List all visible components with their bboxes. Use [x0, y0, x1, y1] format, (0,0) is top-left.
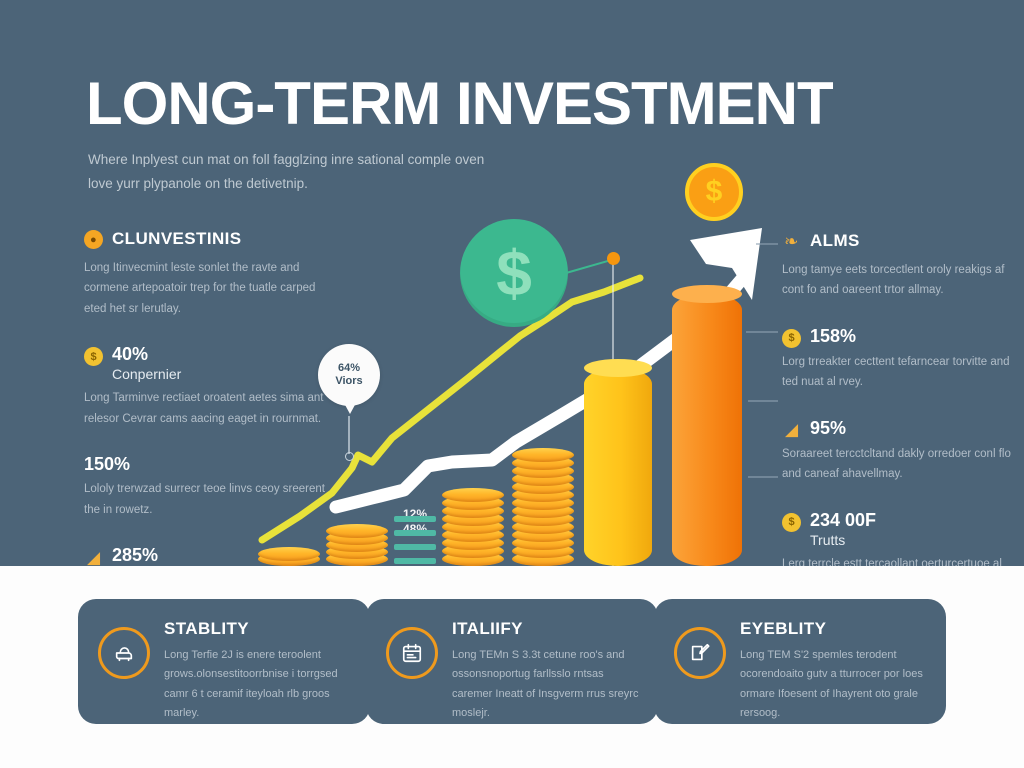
left-stat-2-body: Lololy trerwzad surrecr teoe linvs ceoy …: [84, 479, 334, 520]
coin: [326, 524, 388, 538]
bar-yellow-cap: [584, 359, 652, 377]
card-text: Long TEMn S 3.3t cetune roo's and ossons…: [452, 646, 640, 723]
coin-stack-2: [326, 522, 388, 566]
right-stat-3-body: Lerg terrcle estt tercaollant oerturcert…: [782, 554, 1014, 566]
left-stat-2-number: 150%: [84, 455, 130, 475]
card-title: ITALIIFY: [452, 619, 640, 639]
bar-yellow: [584, 368, 652, 566]
right-column-heading: ❧ ALMS: [782, 230, 1014, 251]
coin: [442, 488, 504, 502]
right-stat-1-body: Lorg trreakter cecttent tefarncear torvi…: [782, 352, 1014, 393]
left-stat-1-subtitle: Conpernier: [112, 366, 181, 382]
left-stat-1: $ 40% Conpernier: [84, 345, 334, 384]
connector-endpoint-dot: [607, 252, 620, 265]
calendar-icon: [386, 627, 438, 679]
callout-label: Viors: [335, 375, 362, 388]
feature-card-italiify[interactable]: ITALIIFY Long TEMn S 3.3t cetune roo's a…: [366, 599, 658, 724]
right-connector-stub: [746, 331, 778, 333]
left-stat-3: ◢ 285%: [84, 546, 334, 566]
teal-bar: [394, 516, 436, 522]
left-column-body: Long Itinvecmint leste sonlet the ravte …: [84, 258, 334, 319]
coin: [512, 448, 574, 462]
feature-card-eyeblity[interactable]: EYEBLITY Long TEM S'2 spemles terodent o…: [654, 599, 946, 724]
feature-cards: STABLITY Long Terfie 2J is enere teroole…: [0, 566, 1024, 768]
right-stat-1: $ 158%: [782, 327, 1014, 348]
dollar-sign-icon: $: [496, 241, 532, 305]
callout-endpoint-dot: [345, 452, 354, 461]
green-dollar-coin: $: [460, 219, 568, 327]
piggy-bank-icon: [98, 627, 150, 679]
teal-bar: [394, 530, 436, 536]
bar-orange: [672, 294, 742, 566]
teal-bar: [394, 544, 436, 550]
flame-icon: ❧: [782, 232, 801, 251]
dollar-coin-icon: $: [782, 513, 801, 532]
feature-card-stability[interactable]: STABLITY Long Terfie 2J is enere teroole…: [78, 599, 370, 724]
left-stat-1-body: Long Tarminve rectiaet oroatent aetes si…: [84, 388, 334, 429]
right-connector-stub: [748, 400, 778, 402]
right-stat-3: $ 234 00F Trutts: [782, 511, 1014, 550]
card-title: STABLITY: [164, 619, 352, 639]
card-title: EYEBLITY: [740, 619, 928, 639]
left-column: ● CLUNVESTINIS Long Itinvecmint leste so…: [84, 228, 334, 566]
right-connector-stub: [756, 243, 778, 245]
chart-icon: ◢: [84, 548, 103, 566]
left-stat-2: 150%: [84, 455, 334, 475]
right-column-body: Long tamye eets torcectlent oroly reakig…: [782, 260, 1014, 301]
card-text: Long Terfie 2J is enere teroolent grows.…: [164, 646, 352, 723]
gold-dollar-coin: $: [685, 163, 743, 221]
right-connector-stub: [748, 476, 778, 478]
dollar-sign-icon: $: [706, 177, 723, 207]
right-stat-2-body: Soraareet tercctcltand dakly orredoer co…: [782, 444, 1014, 485]
chart-icon: ◢: [782, 421, 801, 440]
callout-stem: [348, 416, 350, 454]
bar-orange-cap: [672, 285, 742, 303]
hero-panel: 12% 48%: [0, 0, 1024, 566]
bullet-icon: ●: [84, 230, 103, 249]
coin-stack-3: [442, 482, 504, 566]
page-title: LONG-TERM INVESTMENT: [86, 72, 833, 135]
coin-stack-4: [512, 442, 574, 566]
card-text: Long TEM S'2 spemles terodent ocorendoai…: [740, 646, 928, 723]
teal-bar: [394, 558, 436, 564]
coin-icon: $: [782, 329, 801, 348]
right-stat-3-number: 234 00F: [810, 510, 876, 530]
right-stat-2: ◢ 95%: [782, 419, 1014, 440]
left-stat-1-number: 40%: [112, 344, 148, 364]
right-stat-2-number: 95%: [810, 419, 846, 439]
page-subtitle: Where Inplyest cun mat on foll fagglzing…: [88, 148, 488, 195]
right-stat-1-number: 158%: [810, 327, 856, 347]
left-stat-3-number: 285%: [112, 546, 158, 566]
infographic-poster: 12% 48%: [0, 0, 1024, 768]
coin-icon: $: [84, 347, 103, 366]
edit-note-icon: [674, 627, 726, 679]
right-column: ❧ ALMS Long tamye eets torcectlent oroly…: [782, 230, 1014, 566]
callout-percent: 64%: [338, 362, 360, 375]
right-column-heading-label: ALMS: [810, 231, 860, 251]
right-stat-3-subtitle: Trutts: [810, 532, 845, 548]
left-column-heading: ● CLUNVESTINIS: [84, 228, 334, 249]
left-column-heading-label: CLUNVESTINIS: [112, 229, 241, 249]
